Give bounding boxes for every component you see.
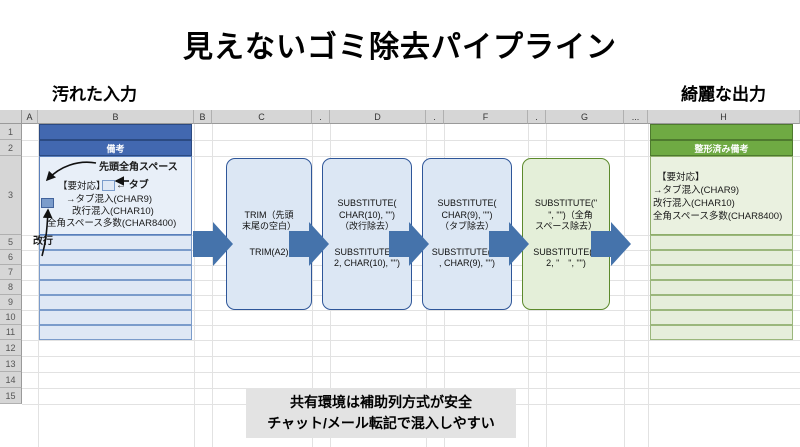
input-table-top-band xyxy=(39,124,192,140)
input-table-row-9[interactable] xyxy=(39,295,192,310)
process-head-line3: （タブ除去） xyxy=(440,221,494,233)
process-head-line2: CHAR(10), "") xyxy=(339,210,395,222)
row-header-12[interactable]: 12 xyxy=(0,340,22,356)
slide-canvas: 見えないゴミ除去パイプライン 汚れた入力 綺麗な出力 A B B C . D .… xyxy=(0,0,800,447)
output-table-row-6[interactable] xyxy=(650,250,793,265)
process-formula-line2: 2, CHAR(10), "") xyxy=(334,258,400,270)
process-head-line1: SUBSTITUTE( xyxy=(337,198,396,210)
input-line-yotaiou: 【要対応】 xyxy=(58,181,106,194)
annotation-leading-space: 先頭全角スペース xyxy=(99,162,178,175)
output-table-row-11[interactable] xyxy=(650,325,793,340)
newline-character-mark xyxy=(41,198,54,208)
output-table-row-5[interactable] xyxy=(650,235,793,250)
process-box-remove-fullwidth-space[interactable]: SUBSTITUTE(" ", "")（全角 スペース除去） SUBSTITUT… xyxy=(522,158,610,310)
output-table-row-8[interactable] xyxy=(650,280,793,295)
column-header-b1[interactable]: B xyxy=(38,110,194,124)
column-header-d[interactable]: D xyxy=(330,110,426,124)
process-formula-line2: , CHAR(9), "") xyxy=(439,258,495,270)
output-table-row-7[interactable] xyxy=(650,265,793,280)
column-header-dot1[interactable]: . xyxy=(312,110,330,124)
process-box-remove-newline[interactable]: SUBSTITUTE( CHAR(10), "") （改行除去） SUBSTIT… xyxy=(322,158,412,310)
process-head-line1: SUBSTITUTE( xyxy=(437,198,496,210)
process-formula-line1: SUBSTITUTE(B xyxy=(334,247,399,259)
page-title: 見えないゴミ除去パイプライン xyxy=(0,22,800,66)
input-line-fullwidth: 全角スペース多数(CHAR8400) xyxy=(47,218,176,231)
process-head-line2: 末尾の空白） xyxy=(242,221,296,233)
column-header-b2[interactable]: B xyxy=(194,110,212,124)
process-head-line2: CHAR(9), "") xyxy=(442,210,493,222)
input-table-row-10[interactable] xyxy=(39,310,192,325)
input-table-row-8[interactable] xyxy=(39,280,192,295)
row-header-8[interactable]: 8 xyxy=(0,280,22,295)
output-line-yotaiou: 【要対応】 xyxy=(657,171,705,184)
process-formula-line1: SUBSTITUTE(D xyxy=(533,247,599,259)
input-table-row-6[interactable] xyxy=(39,250,192,265)
column-header-dot3[interactable]: . xyxy=(528,110,546,124)
caption-line-2: チャット/メール転記で混入しやすい xyxy=(267,413,495,434)
row-header-15[interactable]: 15 xyxy=(0,388,22,404)
tab-character-mark xyxy=(102,180,115,191)
process-formula-line1: TRIM(A2) xyxy=(250,247,289,259)
process-box-trim[interactable]: TRIM（先頭 末尾の空白） TRIM(A2) xyxy=(226,158,312,310)
input-table-header: 備考 xyxy=(39,140,192,156)
column-header-a[interactable]: A xyxy=(22,110,38,124)
output-line-tab: →タブ混入(CHAR9) xyxy=(653,184,739,197)
label-clean-output: 綺麗な出力 xyxy=(681,80,766,105)
row-header-5[interactable]: 5 xyxy=(0,235,22,250)
row-header-11[interactable]: 11 xyxy=(0,325,22,340)
output-table-top-band xyxy=(650,124,793,140)
column-header-h[interactable]: H xyxy=(648,110,800,124)
row-header-14[interactable]: 14 xyxy=(0,372,22,388)
process-box-remove-tab[interactable]: SUBSTITUTE( CHAR(9), "") （タブ除去） SUBSTITU… xyxy=(422,158,512,310)
row-header-7[interactable]: 7 xyxy=(0,265,22,280)
output-line-fullwidth: 全角スペース多数(CHAR8400) xyxy=(653,210,782,223)
input-table-row-7[interactable] xyxy=(39,265,192,280)
process-head-line3: （改行除去） xyxy=(340,221,394,233)
gridline xyxy=(648,124,649,447)
row-header-6[interactable]: 6 xyxy=(0,250,22,265)
gridline xyxy=(212,124,213,447)
output-table-header: 整形済み備考 xyxy=(650,140,793,156)
row-header-10[interactable]: 10 xyxy=(0,310,22,325)
process-head-line1: TRIM（先頭 xyxy=(245,210,294,222)
gridline xyxy=(194,124,195,447)
column-header-c[interactable]: C xyxy=(212,110,312,124)
gridline xyxy=(22,356,800,357)
process-head-line2: ", "")（全角 xyxy=(539,210,593,222)
label-dirty-input: 汚れた入力 xyxy=(52,80,137,105)
output-line-newline: 改行混入(CHAR10) xyxy=(653,197,735,210)
gridline xyxy=(624,124,625,447)
output-table-row-10[interactable] xyxy=(650,310,793,325)
select-all-corner[interactable] xyxy=(0,110,22,124)
row-header-13[interactable]: 13 xyxy=(0,356,22,372)
input-line-newline: 改行混入(CHAR10) xyxy=(72,206,154,219)
input-table-row-5[interactable] xyxy=(39,235,192,250)
input-table-row-11[interactable] xyxy=(39,325,192,340)
row-header-1[interactable]: 1 xyxy=(0,124,22,140)
gridline xyxy=(22,372,800,373)
column-header-g[interactable]: G xyxy=(546,110,624,124)
process-formula-line2: 2, " ", "") xyxy=(546,258,586,270)
column-header-f[interactable]: F xyxy=(444,110,528,124)
annotation-tab: ← タブ xyxy=(116,180,149,193)
process-head-line3: スペース除去） xyxy=(535,221,597,233)
row-header-9[interactable]: 9 xyxy=(0,295,22,310)
process-formula-line1: SUBSTITUTE(C2 xyxy=(432,247,503,259)
input-line-tab: →タブ混入(CHAR9) xyxy=(66,194,152,207)
gridline xyxy=(22,340,800,341)
row-header-3[interactable]: 3 xyxy=(0,156,22,235)
column-header-dot2[interactable]: . xyxy=(426,110,444,124)
process-head-line1: SUBSTITUTE(" xyxy=(535,198,597,210)
column-header-dots[interactable]: ... xyxy=(624,110,648,124)
caption-line-1: 共有環境は補助列方式が安全 xyxy=(290,392,472,413)
annotation-newline: 改行 xyxy=(33,236,53,249)
output-table-row-9[interactable] xyxy=(650,295,793,310)
row-header-2[interactable]: 2 xyxy=(0,140,22,156)
footer-caption: 共有環境は補助列方式が安全 チャット/メール転記で混入しやすい xyxy=(246,388,516,438)
